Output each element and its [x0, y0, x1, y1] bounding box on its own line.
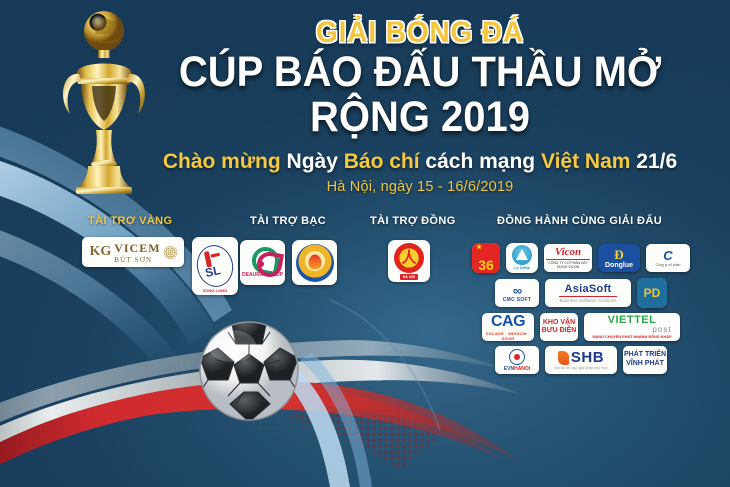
licogi-36-text: 36 — [478, 258, 494, 272]
viettel-post-text: post — [592, 326, 671, 334]
partner-row: ★ 36 Le Delta Vicon CÔNG TY CỔ PHẦN XÂY … — [467, 243, 695, 273]
le-delta-icon — [512, 245, 532, 265]
section-title-silver-sponsor: TÀI TRỢ BẠC — [250, 215, 326, 227]
kho-van-line2: BƯU ĐIỆN — [542, 327, 577, 335]
vicem-sub: BÚT SƠN — [114, 257, 160, 264]
vicem-mark: KG — [89, 245, 111, 259]
logo-shb: SHB Đối tác tin cậy, giải pháp phù hợp — [545, 346, 617, 374]
shb-text: SHB — [571, 350, 604, 365]
section-title-gold-sponsor: TÀI TRỢ VÀNG — [88, 215, 172, 227]
bronze-badge-icon: 人 — [394, 243, 424, 273]
silver-sponsor-logos: DEAURA GROUP — [240, 240, 337, 285]
shb-mark-icon — [558, 351, 569, 365]
cmc-soft-text: CMC SOFT — [503, 297, 532, 303]
deaura-swirl-icon — [250, 246, 276, 272]
cag-text: CAG — [482, 314, 534, 330]
cmc-mark-icon: ∞ — [503, 284, 532, 297]
bronze-badge-sub: HÀ NỘI — [400, 274, 419, 280]
song-long-ellipse-icon: SL — [193, 242, 237, 291]
bronze-sponsor-logos: 人 HÀ NỘI — [388, 240, 430, 282]
partner-row: ∞ CMC SOFT AsiaSoft Business Software So… — [467, 278, 695, 308]
vicon-text: Vicon — [546, 247, 590, 258]
pd-text: PD — [644, 287, 661, 299]
logo-blue-swoosh: C Công ty cổ phần — [646, 244, 690, 272]
logo-evn-hanoi: EVNHANOI — [495, 346, 539, 374]
logo-song-long: SL SONG LONG — [192, 237, 238, 295]
pd-icon: PD — [637, 278, 667, 308]
soccer-ball-icon — [196, 318, 302, 424]
ptvp-line2: VĨNH PHÁT — [624, 360, 666, 369]
tournament-poster: GIẢI BÓNG ĐÁ CÚP BÁO ĐẤU THẦU MỞ RỘNG 20… — [0, 0, 730, 487]
partner-row: EVNHANOI SHB Đối tác tin cậy, giải pháp … — [467, 346, 695, 374]
cag-sub: FACADE · WINDOW · DOOR — [482, 331, 534, 341]
viettel-post-sub: MẠNG CHUYỂN PHÁT NHANH RỘNG KHẮP — [592, 335, 671, 339]
subtitle-word: Việt Nam — [541, 150, 636, 173]
logo-phat-trien-vinh-phat: PHÁT TRIỂN VĨNH PHÁT — [623, 346, 667, 374]
evn-circle-icon — [509, 349, 525, 365]
logo-flame-emblem — [292, 240, 337, 285]
logo-viettel-post: VIETTEL post MẠNG CHUYỂN PHÁT NHANH RỘNG… — [584, 313, 680, 341]
kho-van-line1: KHO VẬN — [542, 319, 577, 327]
location-date: Hà Nội, ngày 15 - 16/6/2019 — [110, 179, 730, 195]
dong-luc-name: Donglue — [605, 262, 633, 269]
le-delta-text: Le Delta — [514, 266, 530, 270]
page-title: CÚP BÁO ĐẤU THẦU MỞ RỘNG 2019 — [132, 50, 709, 140]
logo-vicon: Vicon CÔNG TY CỔ PHẦN XÂY DỰNG VICON — [544, 244, 592, 272]
logo-asiasoft: AsiaSoft Business Software Solutions — [545, 279, 631, 307]
logo-le-delta: Le Delta — [506, 243, 538, 273]
blue-swoosh-sub: Công ty cổ phần — [656, 263, 681, 267]
evn-text: EVN — [504, 366, 514, 372]
licogi-36-icon: ★ 36 — [472, 243, 500, 273]
shb-sub: Đối tác tin cậy, giải pháp phù hợp — [554, 366, 607, 370]
logo-cag: CAG FACADE · WINDOW · DOOR — [482, 313, 534, 341]
logo-pd: PD — [637, 278, 667, 308]
subtitle-word: Ngày — [287, 150, 344, 173]
asiasoft-sub: Business Software Solutions — [559, 296, 616, 303]
evn-hanoi-text: HANOI — [514, 366, 530, 372]
section-title-partners: ĐỒNG HÀNH CÙNG GIẢI ĐẤU — [497, 215, 662, 227]
subtitle-word: Báo chí — [344, 150, 426, 173]
subtitle: Chào mừng Ngày Báo chí cách mạng Việt Na… — [110, 150, 730, 173]
logo-dong-luc: Đ Donglue — [598, 244, 640, 272]
blue-swoosh-mark: C — [656, 249, 681, 262]
headline-top: GIẢI BÓNG ĐÁ — [132, 18, 709, 48]
vicon-sub: CÔNG TY CỔ PHẦN XÂY DỰNG VICON — [546, 259, 590, 269]
subtitle-word: cách mạng — [425, 150, 541, 173]
subtitle-word: 21/6 — [636, 150, 677, 173]
logo-licogi-36: ★ 36 — [472, 243, 500, 273]
logo-cmc-soft: ∞ CMC SOFT — [495, 279, 539, 307]
logo-bronze-badge: 人 HÀ NỘI — [388, 240, 430, 282]
partner-row: CAG FACADE · WINDOW · DOOR KHO VẬN BƯU Đ… — [467, 313, 695, 341]
partner-logo-grid: ★ 36 Le Delta Vicon CÔNG TY CỔ PHẦN XÂY … — [467, 243, 695, 379]
song-long-sub: SONG LONG — [192, 288, 238, 293]
logo-deaura-group: DEAURA GROUP — [240, 240, 285, 285]
subtitle-word: Chào mừng — [163, 150, 287, 173]
section-title-bronze-sponsor: TÀI TRỢ ĐỒNG — [370, 215, 456, 227]
logo-vicem-but-son: KG VICEM BÚT SƠN — [82, 237, 184, 267]
logo-kho-van-buu-dien: KHO VẬN BƯU ĐIỆN — [540, 313, 578, 341]
ptvp-line1: PHÁT TRIỂN — [624, 351, 666, 360]
dong-luc-monogram: Đ — [614, 248, 623, 261]
vicem-name: VICEM — [114, 241, 160, 255]
gold-sponsor-logos: KG VICEM BÚT SƠN SL SONG LONG — [82, 237, 238, 295]
vicem-globe-icon — [164, 246, 177, 259]
flame-emblem-icon — [296, 244, 334, 282]
headline-block: GIẢI BÓNG ĐÁ CÚP BÁO ĐẤU THẦU MỞ RỘNG 20… — [110, 18, 730, 195]
asiasoft-text: AsiaSoft — [559, 284, 616, 295]
